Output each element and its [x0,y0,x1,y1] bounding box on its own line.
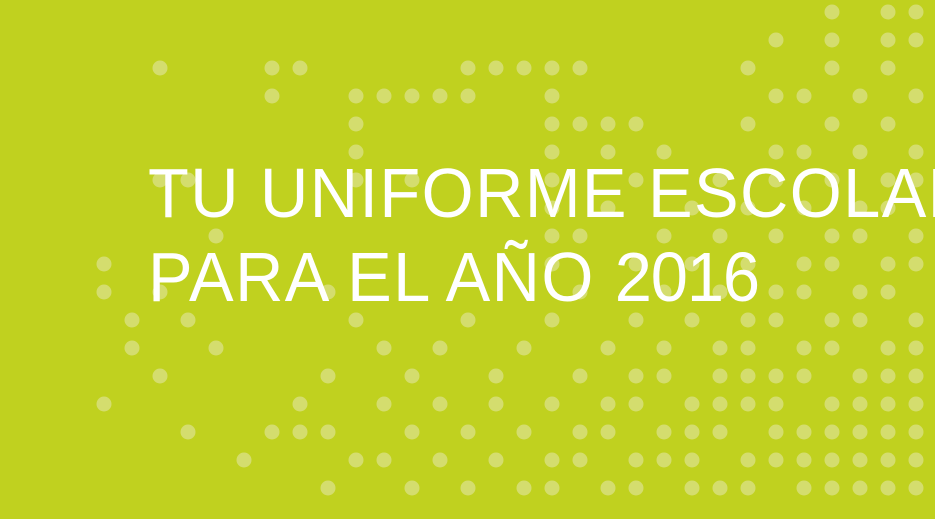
headline: TU UNIFORME ESCOLAR PARA EL AÑO 2016 [148,158,888,312]
promo-banner: TU UNIFORME ESCOLAR PARA EL AÑO 2016 [0,0,935,519]
headline-line-2-prefix: PARA EL AÑO [148,238,615,316]
headline-line-2: PARA EL AÑO 2016 [148,242,855,312]
headline-line-1: TU UNIFORME ESCOLAR [148,158,855,228]
headline-year: 2016 [615,238,759,316]
